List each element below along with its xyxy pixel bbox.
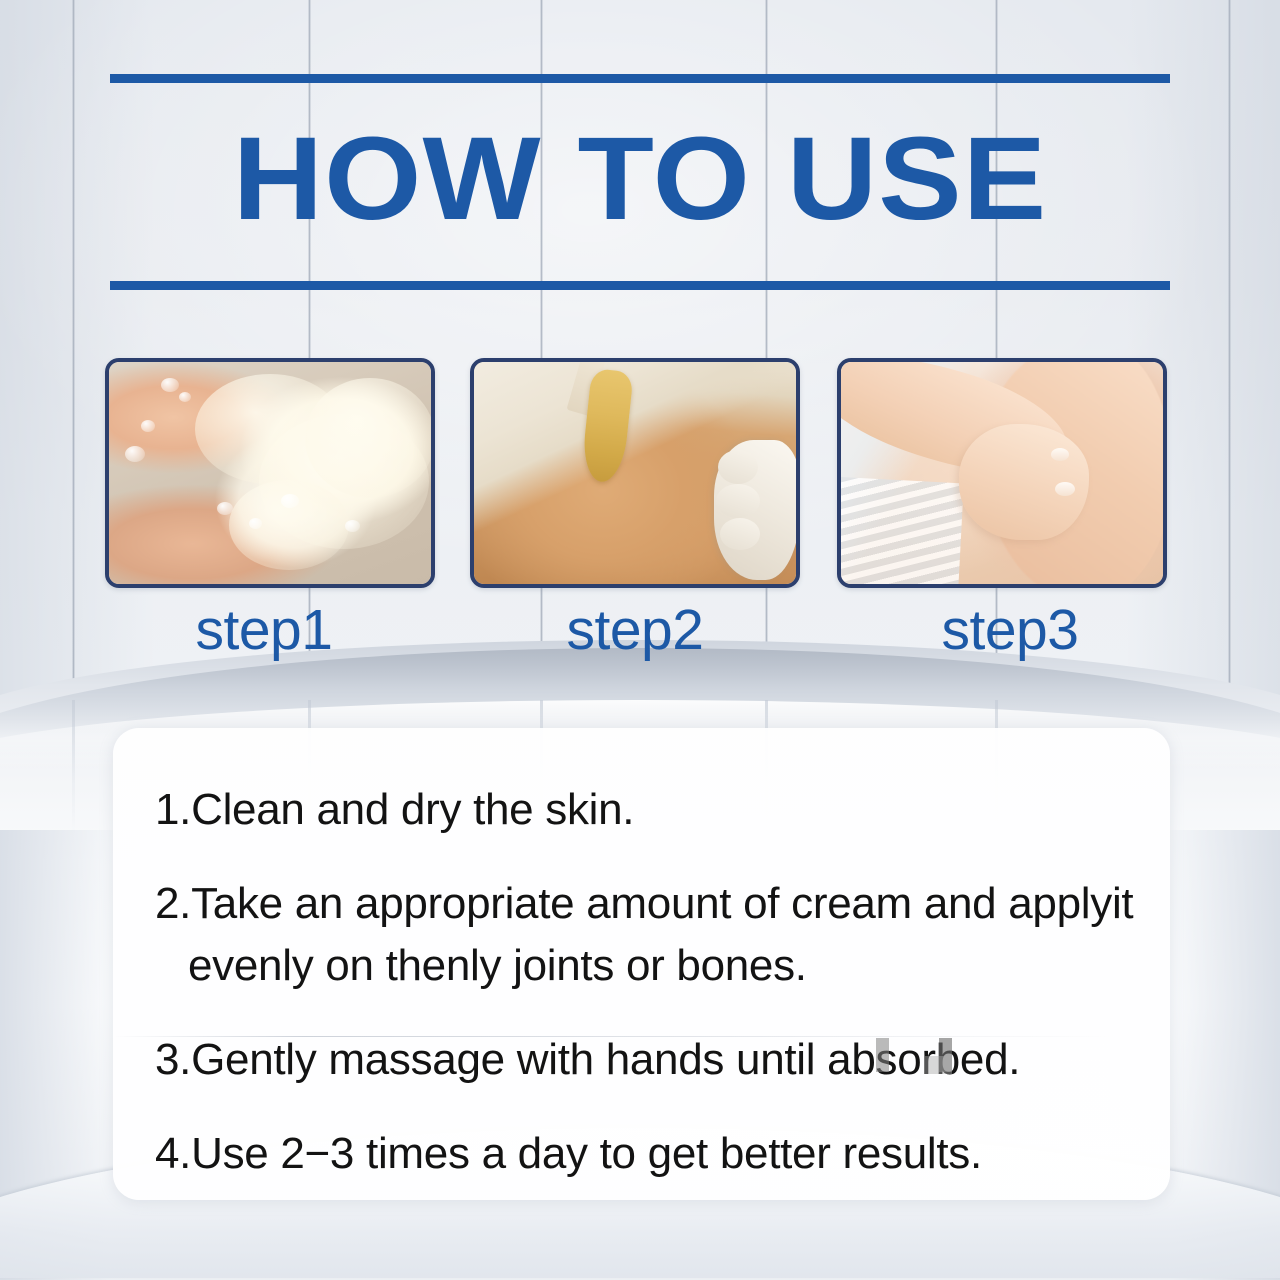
step-item-2: step2: [470, 358, 800, 664]
background-slats: [841, 477, 964, 584]
instruction-line-2-text: 2.Take an appropriate amount of cream an…: [155, 879, 1133, 928]
instruction-line-1: 1.Clean and dry the skin.: [155, 782, 1140, 838]
instruction-line-2: 2.Take an appropriate amount of cream an…: [155, 876, 1140, 932]
instruction-line-4: 4.Use 2−3 times a day to get better resu…: [155, 1126, 1140, 1182]
step-label-3: step3: [837, 596, 1167, 664]
step-item-1: step1: [105, 358, 435, 664]
instruction-line-3-text: 3.Gently massage with hands until absorb…: [155, 1035, 1020, 1084]
page-title: HOW TO USE: [0, 104, 1280, 254]
step-thumbnail-2: [470, 358, 800, 588]
instructions-list: 1.Clean and dry the skin. 2.Take an appr…: [155, 772, 1140, 1182]
title-rule-bottom: [110, 281, 1170, 290]
gloved-hand-shape: [714, 440, 796, 580]
step-thumbnail-1: [105, 358, 435, 588]
instruction-line-2-continued: evenly on thenly joints or bones.: [155, 938, 1140, 994]
step-item-3: step3: [837, 358, 1167, 664]
instruction-line-3: 3.Gently massage with hands until absorb…: [155, 1032, 1140, 1088]
steps-row: step1 step2: [0, 358, 1280, 658]
title-rule-top: [110, 74, 1170, 83]
how-to-use-infographic: HOW TO USE: [0, 0, 1280, 1280]
step-thumbnail-3: [837, 358, 1167, 588]
hand-shape: [959, 424, 1089, 540]
wall-panel-seam-lower: [72, 700, 75, 835]
instructions-card: 1.Clean and dry the skin. 2.Take an appr…: [113, 728, 1170, 1200]
step-label-2: step2: [470, 596, 800, 664]
step-label-1: step1: [105, 596, 435, 664]
